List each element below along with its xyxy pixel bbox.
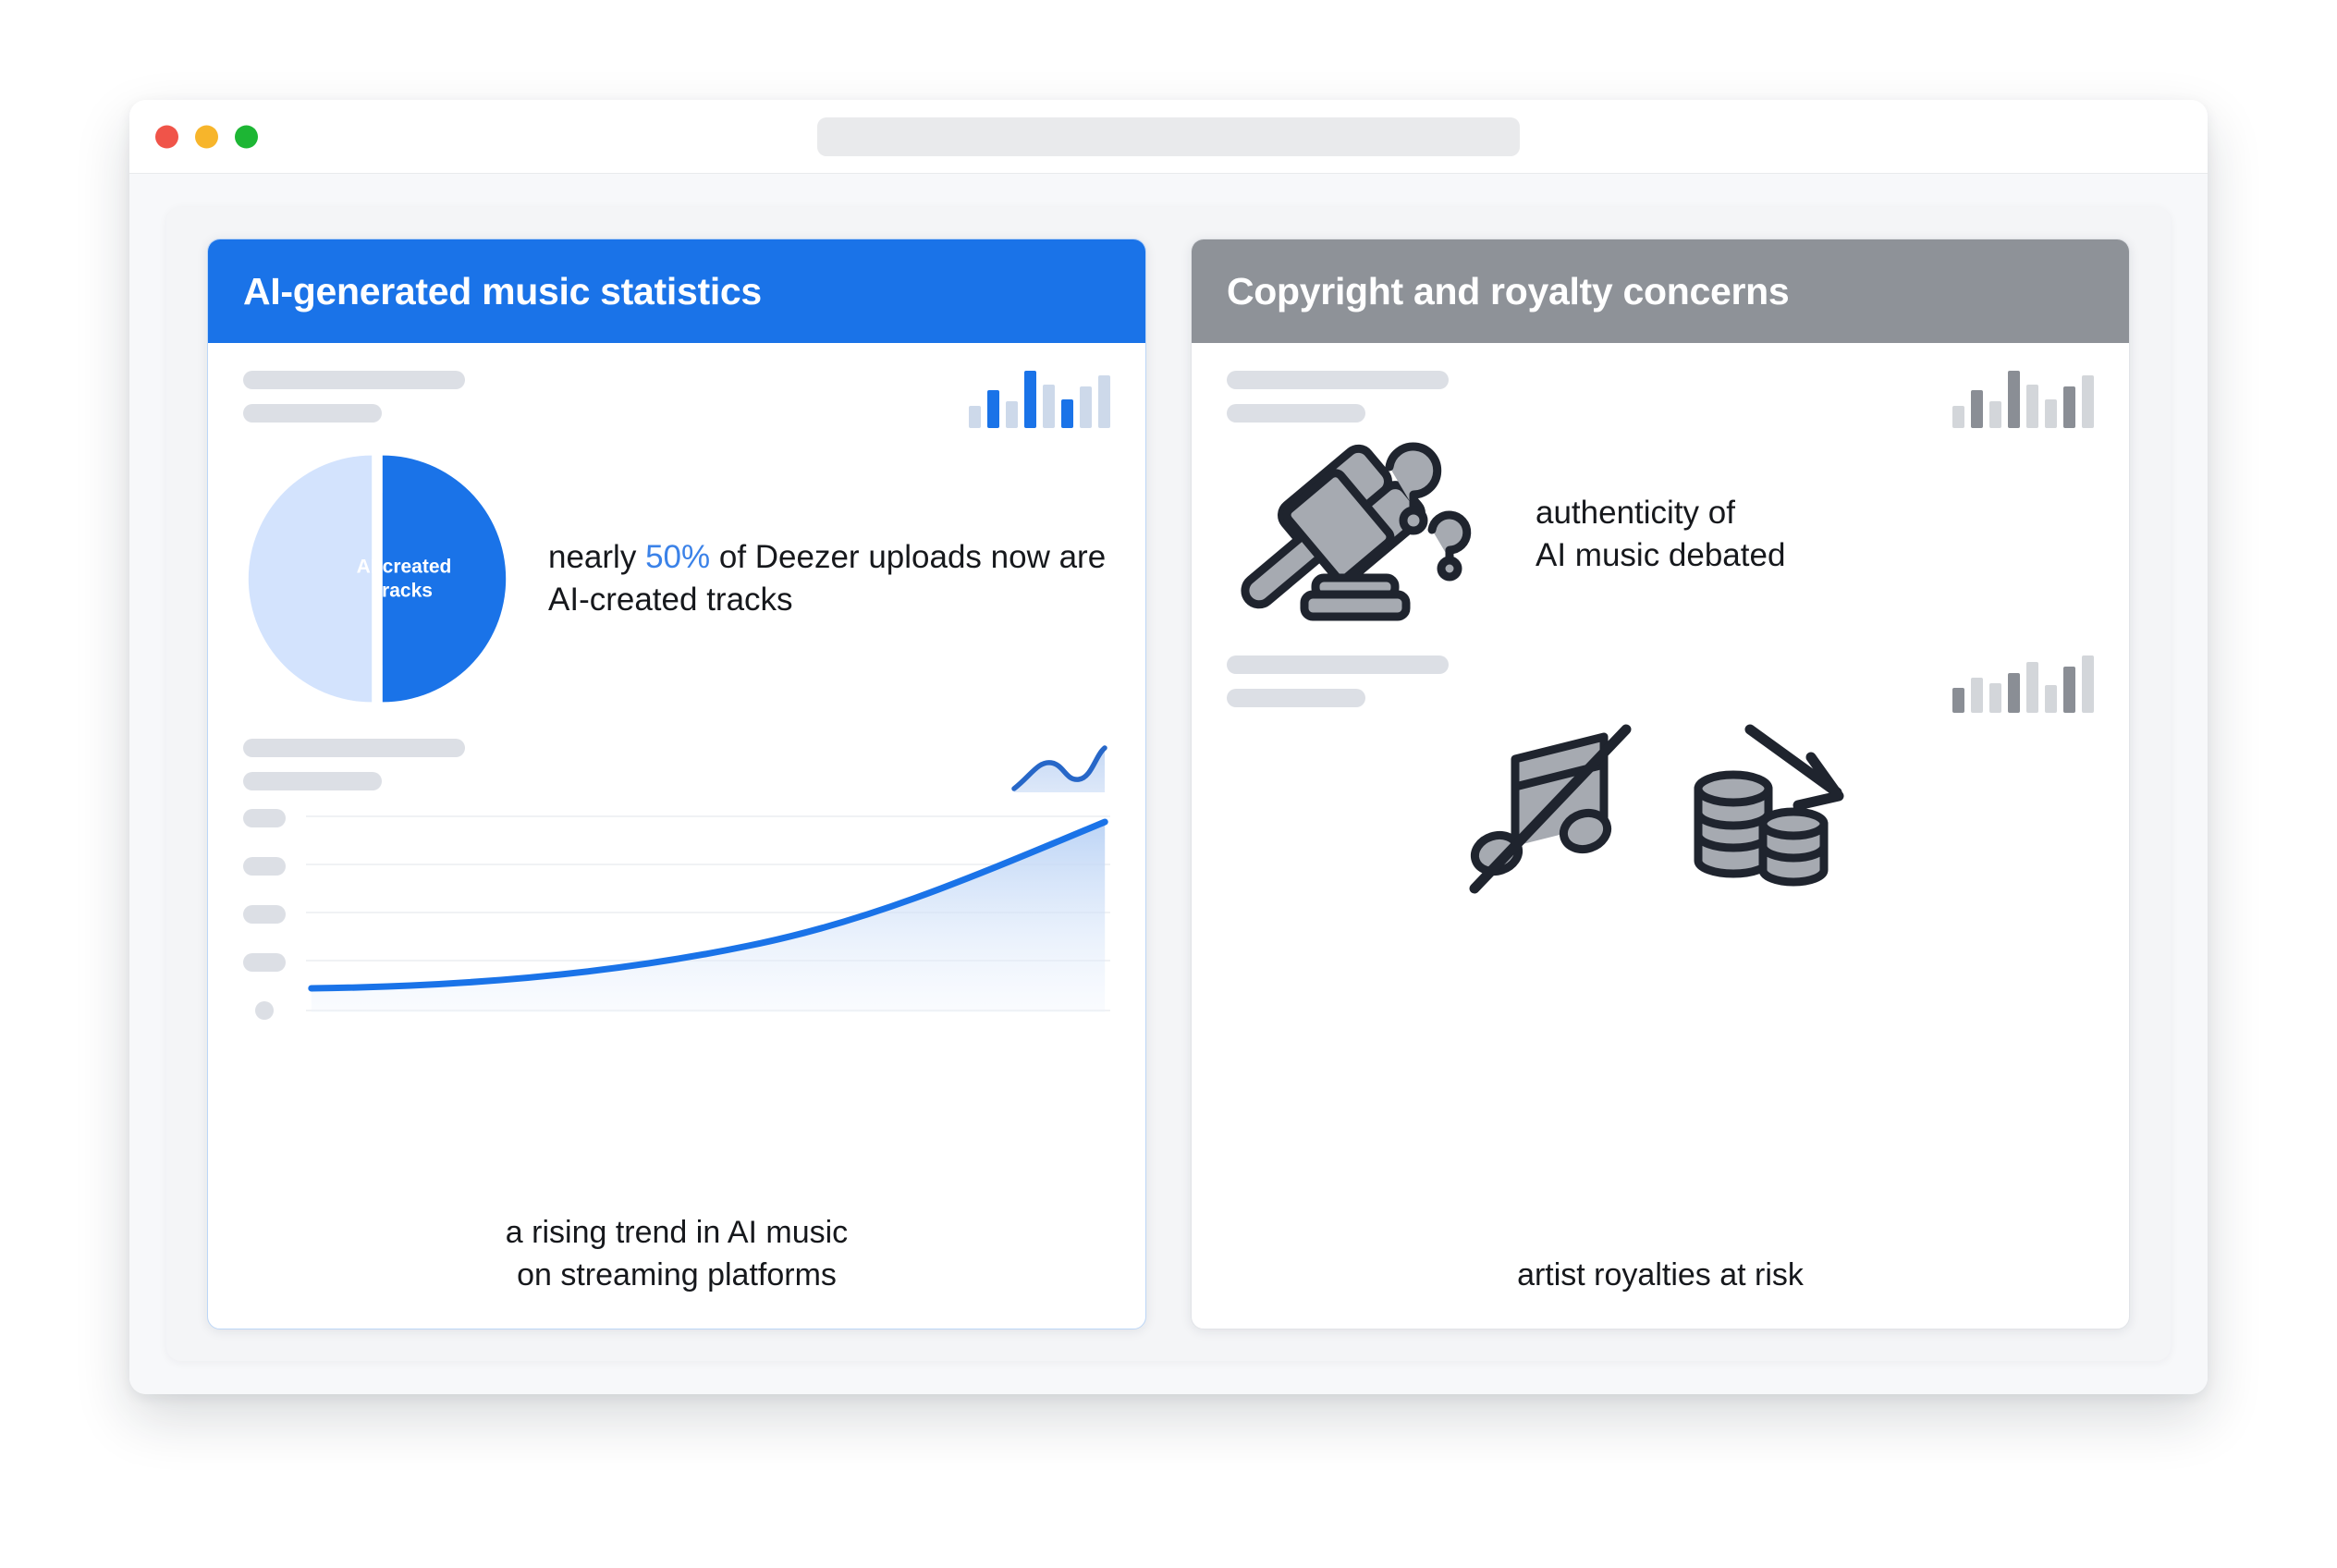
bar-chart-bar bbox=[1024, 371, 1036, 428]
y-axis-tick-placeholder bbox=[255, 1001, 274, 1020]
maximize-window-button[interactable] bbox=[235, 125, 258, 148]
skeleton-line bbox=[243, 371, 465, 389]
bar-chart-bar bbox=[2026, 385, 2038, 428]
browser-window: AI-generated music statistics bbox=[129, 100, 2208, 1394]
chart-plot-area bbox=[306, 807, 1110, 1020]
gavel-statement-row: authenticity ofAI music debated bbox=[1227, 437, 2094, 631]
bar-chart-bar bbox=[2008, 371, 2020, 428]
chart-y-axis bbox=[243, 807, 291, 1020]
bar-chart-bar bbox=[2063, 667, 2075, 713]
card-body-secondary: authenticity ofAI music debated bbox=[1192, 343, 2129, 1329]
statistic-statement: nearly 50% of Deezer uploads now are AI-… bbox=[548, 536, 1110, 621]
skeleton-line bbox=[1227, 655, 1449, 674]
gavel-statement-text: authenticity ofAI music debated bbox=[1536, 492, 1785, 577]
pie-chart: AI-createdtracks bbox=[243, 445, 511, 713]
skeleton-lines-secondary-top bbox=[1227, 371, 1449, 423]
card-copyright-and-royalty-concerns[interactable]: Copyright and royalty concerns bbox=[1191, 239, 2130, 1329]
bar-chart-icon bbox=[969, 371, 1110, 428]
bar-chart-bar bbox=[1952, 688, 1964, 713]
bar-chart-bar bbox=[987, 390, 999, 428]
skeleton-lines-primary-top bbox=[243, 371, 465, 423]
skeleton-line bbox=[1227, 404, 1365, 423]
browser-titlebar bbox=[129, 100, 2208, 174]
skeleton-lines-secondary-bottom bbox=[1227, 655, 1449, 707]
bar-chart-icon bbox=[1952, 371, 2094, 428]
bar-chart-bar bbox=[2063, 386, 2075, 428]
bar-chart-bar bbox=[1952, 406, 1964, 428]
coins-stack-icon bbox=[1682, 717, 1866, 901]
card-title-primary: AI-generated music statistics bbox=[243, 270, 762, 313]
content-panel: AI-generated music statistics bbox=[166, 207, 2171, 1361]
y-axis-tick-placeholder bbox=[243, 857, 286, 876]
y-axis-tick-placeholder bbox=[243, 953, 286, 972]
caption-secondary: artist royalties at risk bbox=[1227, 1232, 2094, 1297]
bar-chart-bar bbox=[2008, 673, 2020, 713]
pie-statistic-row: AI-createdtracks nearly 50% of Deezer up… bbox=[243, 445, 1110, 713]
card-header-primary: AI-generated music statistics bbox=[208, 239, 1145, 343]
bar-chart-bar bbox=[1098, 375, 1110, 428]
card-body-primary: AI-createdtracks nearly 50% of Deezer up… bbox=[208, 343, 1145, 1329]
bar-chart-bar bbox=[1080, 386, 1092, 428]
trend-area-chart bbox=[243, 807, 1110, 1020]
y-axis-tick-placeholder bbox=[243, 905, 286, 924]
bar-chart-bar bbox=[969, 406, 981, 428]
caption-primary: a rising trend in AI musicon streaming p… bbox=[243, 1190, 1110, 1297]
primary-second-row bbox=[243, 739, 1110, 796]
bar-chart-bar bbox=[2045, 685, 2057, 713]
bar-chart-bar bbox=[1989, 683, 2001, 713]
bar-chart-bar bbox=[1061, 399, 1073, 428]
royalties-icon-row bbox=[1227, 717, 2094, 901]
skeleton-line bbox=[243, 404, 382, 423]
bar-chart-bar bbox=[2082, 375, 2094, 428]
skeleton-line bbox=[1227, 689, 1365, 707]
bar-chart-bar bbox=[1006, 401, 1018, 428]
bar-chart-bar bbox=[2026, 662, 2038, 713]
card-header-secondary: Copyright and royalty concerns bbox=[1192, 239, 2129, 343]
pie-chart-svg bbox=[243, 445, 511, 713]
bar-chart-bar bbox=[1043, 385, 1055, 428]
skeleton-line bbox=[243, 739, 465, 757]
traffic-lights bbox=[155, 125, 258, 148]
line-chart-icon bbox=[1009, 739, 1110, 796]
skeleton-lines-primary-bottom bbox=[243, 739, 465, 790]
secondary-top-row bbox=[1227, 371, 2094, 428]
card-title-secondary: Copyright and royalty concerns bbox=[1227, 270, 1789, 313]
bar-chart-bar bbox=[1989, 401, 2001, 428]
y-axis-tick-placeholder bbox=[243, 809, 286, 827]
page-body: AI-generated music statistics bbox=[129, 174, 2208, 1394]
card-ai-generated-music-statistics[interactable]: AI-generated music statistics bbox=[207, 239, 1146, 1329]
bar-chart-bar bbox=[2082, 655, 2094, 713]
address-bar-input[interactable] bbox=[817, 117, 1520, 156]
bar-chart-icon bbox=[1952, 655, 2094, 713]
close-window-button[interactable] bbox=[155, 125, 178, 148]
music-note-muted-icon bbox=[1454, 717, 1658, 901]
skeleton-line bbox=[1227, 371, 1449, 389]
secondary-second-row bbox=[1227, 655, 2094, 713]
gavel-icon bbox=[1227, 437, 1504, 631]
statistic-accent-value: 50% bbox=[645, 539, 710, 575]
bar-chart-bar bbox=[2045, 399, 2057, 428]
bar-chart-bar bbox=[1971, 678, 1983, 713]
bar-chart-bar bbox=[1971, 390, 1983, 428]
minimize-window-button[interactable] bbox=[195, 125, 218, 148]
primary-top-row bbox=[243, 371, 1110, 428]
skeleton-line bbox=[243, 772, 382, 790]
area-chart-svg bbox=[306, 807, 1110, 1020]
